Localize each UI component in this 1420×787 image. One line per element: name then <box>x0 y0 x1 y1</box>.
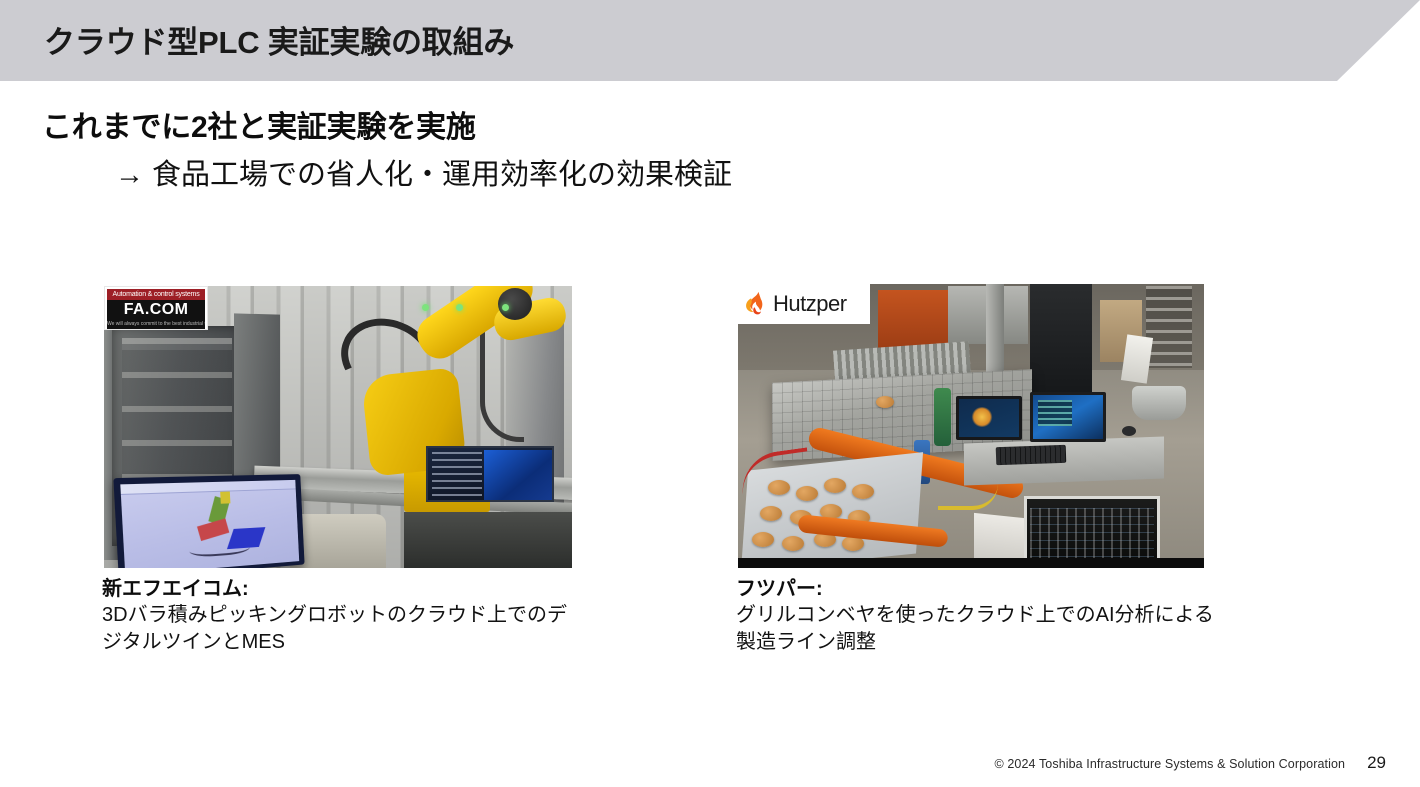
subtitle-secondary: → 食品工場での省人化・運用効率化の効果検証 <box>42 155 1042 195</box>
copyright-text: © 2024 Toshiba Infrastructure Systems & … <box>995 757 1346 771</box>
cookie <box>760 506 782 521</box>
facom-tagline-bottom: We will always commit to the best indust… <box>107 320 205 329</box>
ai-detection-overlay <box>971 407 993 427</box>
page-title: クラウド型PLC 実証実験の取組み <box>44 17 514 62</box>
slide-canvas: クラウド型PLC 実証実験の取組み これまでに2社と実証実験を実施 → 食品工場… <box>0 0 1420 787</box>
laptop <box>1030 392 1106 442</box>
subtitle-primary: これまでに2社と実証実験を実施 <box>42 108 1042 148</box>
laptop-window <box>1038 400 1072 426</box>
ai-monitor <box>956 396 1022 440</box>
ai-monitor-screen <box>959 399 1019 437</box>
twin-part-red <box>197 518 229 541</box>
tray-rack <box>1146 286 1192 368</box>
photo-food-factory: Hutzper <box>738 284 1204 568</box>
footer: © 2024 Toshiba Infrastructure Systems & … <box>995 753 1387 773</box>
control-box-wiring <box>1030 508 1154 562</box>
hose <box>480 322 524 442</box>
cookie-on-table <box>876 396 894 408</box>
mouse <box>1122 426 1136 436</box>
figure-right: Hutzper フツパー: グリルコンベヤを使ったクラウド上でのAI分析による製… <box>738 284 1204 656</box>
hutzper-wordmark: Hutzper <box>773 293 847 315</box>
figure-left: Automation & control systems FA.COM We w… <box>104 286 572 656</box>
laptop-terminal <box>432 452 482 498</box>
facom-tagline-top: Automation & control systems <box>107 289 205 300</box>
photo-scene-right <box>738 284 1204 568</box>
green-bottle <box>934 388 951 446</box>
digital-twin-screen <box>120 480 299 568</box>
digital-twin-monitor <box>113 474 304 568</box>
facom-logo: Automation & control systems FA.COM We w… <box>104 286 208 330</box>
cookie <box>752 532 774 547</box>
flame-icon <box>743 291 769 317</box>
status-led <box>456 304 463 311</box>
caption-right: フツパー: グリルコンベヤを使ったクラウド上でのAI分析による製造ライン調整 <box>736 576 1204 656</box>
facom-wordmark: FA.COM <box>107 300 205 320</box>
keyboard <box>996 445 1067 465</box>
cookie <box>782 536 804 551</box>
laptop-screen <box>484 450 552 500</box>
dark-equipment-unit <box>1030 284 1092 394</box>
photo-robot-cell: Automation & control systems FA.COM We w… <box>104 286 572 568</box>
photo-bottom-strip <box>738 558 1204 568</box>
status-led <box>422 304 429 311</box>
caption-right-body: グリルコンベヤを使ったクラウド上でのAI分析による製造ライン調整 <box>736 602 1214 656</box>
hutzper-logo: Hutzper <box>738 284 870 324</box>
laptop-screen <box>1033 395 1103 439</box>
page-number: 29 <box>1367 753 1386 773</box>
caption-left-body: 3Dバラ積みピッキングロボットのクラウド上でのデジタルツインとMES <box>102 602 582 656</box>
metal-bowl <box>1132 386 1186 420</box>
caption-right-title: フツパー: <box>736 576 1204 602</box>
subtitle-block: これまでに2社と実証実験を実施 → 食品工場での省人化・運用効率化の効果検証 <box>42 108 1042 195</box>
caption-left: 新エフエイコム: 3Dバラ積みピッキングロボットのクラウド上でのデジタルツインと… <box>102 576 572 656</box>
cookie <box>824 478 846 493</box>
laptop-on-rack <box>426 446 554 502</box>
twin-part-wire <box>189 538 250 558</box>
equipment-rack <box>404 512 572 568</box>
status-led <box>502 304 509 311</box>
twin-part-yellow <box>220 491 230 503</box>
cookie <box>852 484 874 499</box>
caption-left-title: 新エフエイコム: <box>102 576 572 602</box>
